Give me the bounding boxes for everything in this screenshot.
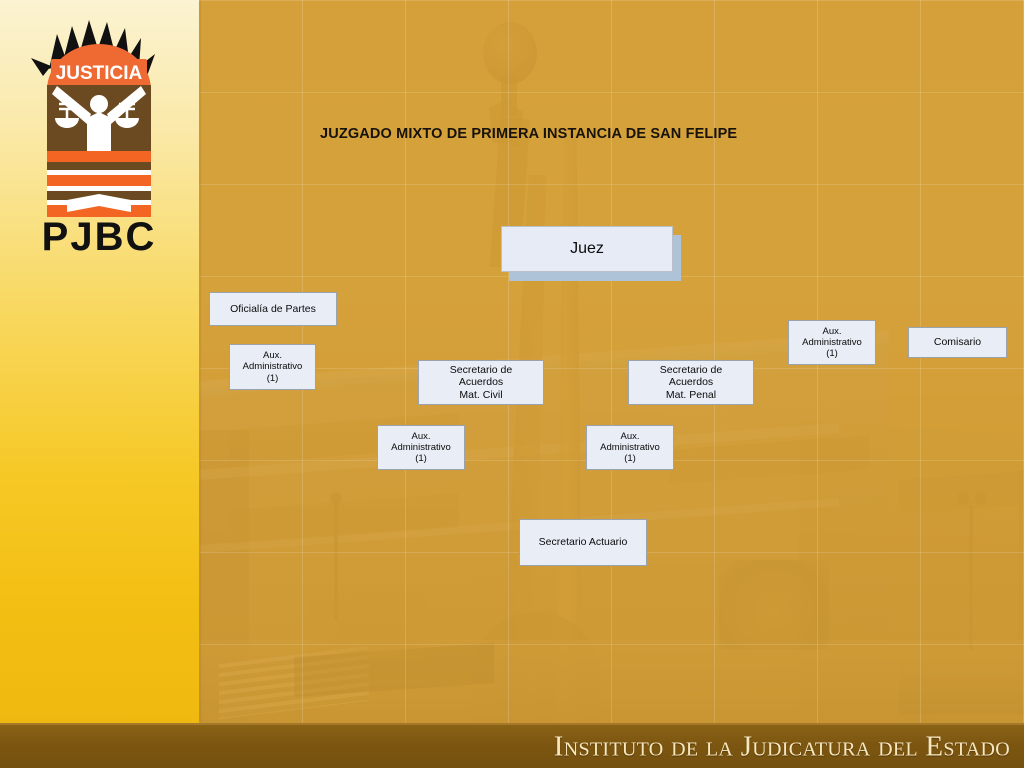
node-sec-penal-line2: Acuerdos xyxy=(669,376,713,388)
node-aux-penal-line2: Administrativo xyxy=(600,442,660,453)
background-grid xyxy=(199,0,1024,723)
node-secretario-actuario[interactable]: Secretario Actuario xyxy=(519,519,647,566)
node-sec-civil-line2: Acuerdos xyxy=(459,376,503,388)
logo-banner-text: JUSTICIA xyxy=(56,63,143,84)
node-oficialia-label: Oficialía de Partes xyxy=(230,303,316,315)
node-aux-oficialia-line3: (1) xyxy=(267,373,279,384)
background-photo xyxy=(199,0,1024,723)
node-aux-civil-line3: (1) xyxy=(415,453,427,464)
logo-stripes xyxy=(47,151,151,217)
node-aux-civil-line2: Administrativo xyxy=(391,442,451,453)
node-secretario-acuerdos-civil[interactable]: Secretario de Acuerdos Mat. Civil xyxy=(418,360,544,405)
node-aux-derecha-line1: Aux. xyxy=(822,326,841,337)
node-aux-penal-line1: Aux. xyxy=(620,431,639,442)
node-aux-derecha-line2: Administrativo xyxy=(802,337,862,348)
footer-bar: Instituto de la Judicatura del Estado xyxy=(0,723,1024,768)
node-aux-penal-line3: (1) xyxy=(624,453,636,464)
logo-acronym-text: PJBC xyxy=(42,215,157,259)
node-sec-civil-line1: Secretario de xyxy=(450,364,512,376)
node-sec-civil-line3: Mat. Civil xyxy=(459,389,502,401)
left-sidebar: JUSTICIA xyxy=(0,0,199,723)
pjbc-logo: JUSTICIA xyxy=(27,14,172,259)
node-aux-civil-line1: Aux. xyxy=(411,431,430,442)
node-secretario-acuerdos-penal[interactable]: Secretario de Acuerdos Mat. Penal xyxy=(628,360,754,405)
node-juez-label: Juez xyxy=(570,240,604,259)
page-title: JUZGADO MIXTO DE PRIMERA INSTANCIA DE SA… xyxy=(320,126,737,142)
node-aux-oficialia-line1: Aux. xyxy=(263,350,282,361)
node-sec-penal-line1: Secretario de xyxy=(660,364,722,376)
node-aux-administrativo-civil[interactable]: Aux. Administrativo (1) xyxy=(377,425,465,470)
node-oficialia-de-partes[interactable]: Oficialía de Partes xyxy=(209,292,337,326)
node-juez[interactable]: Juez xyxy=(501,226,673,272)
node-aux-derecha-line3: (1) xyxy=(826,348,838,359)
node-aux-oficialia-line2: Administrativo xyxy=(243,361,303,372)
node-comisario-label: Comisario xyxy=(934,336,981,348)
pjbc-logo-icon: JUSTICIA xyxy=(27,14,172,259)
node-aux-administrativo-derecha[interactable]: Aux. Administrativo (1) xyxy=(788,320,876,365)
footer-institution-name: Instituto de la Judicatura del Estado xyxy=(554,730,1010,763)
node-sec-penal-line3: Mat. Penal xyxy=(666,389,716,401)
node-comisario[interactable]: Comisario xyxy=(908,327,1007,358)
node-aux-administrativo-oficialia[interactable]: Aux. Administrativo (1) xyxy=(229,344,316,390)
slide-canvas: JUSTICIA xyxy=(0,0,1024,768)
node-aux-administrativo-penal[interactable]: Aux. Administrativo (1) xyxy=(586,425,674,470)
node-sec-actuario-label: Secretario Actuario xyxy=(539,536,628,548)
